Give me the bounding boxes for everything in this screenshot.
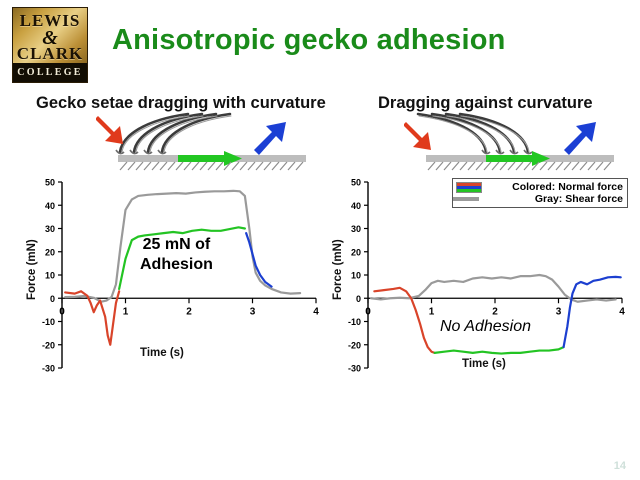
logo-line-lewis: LEWIS	[20, 12, 81, 29]
legend-row-colored: Colored: Normal force	[456, 181, 623, 193]
adhesion-annotation-line1: 25 mN of	[140, 235, 213, 255]
logo-college-bar: COLLEGE	[13, 63, 87, 82]
substrate-hatching-icon	[120, 162, 303, 170]
svg-text:50: 50	[351, 178, 361, 188]
svg-text:2: 2	[492, 306, 498, 317]
svg-text:4: 4	[619, 306, 625, 317]
svg-text:2: 2	[186, 306, 192, 317]
svg-text:-20: -20	[42, 340, 55, 350]
logo-line-clark: CLARK	[17, 45, 83, 62]
right-chart-xlabel: Time (s)	[462, 358, 506, 370]
no-adhesion-annotation: No Adhesion	[440, 318, 531, 336]
svg-text:-10: -10	[42, 317, 55, 327]
svg-text:1: 1	[123, 306, 129, 317]
svg-text:0: 0	[50, 294, 55, 304]
svg-text:40: 40	[351, 201, 361, 211]
svg-text:20: 20	[45, 247, 55, 257]
left-chart-xlabel: Time (s)	[140, 347, 184, 359]
setae-tips-icon	[116, 150, 166, 154]
svg-text:-30: -30	[348, 364, 361, 374]
setae-highlight-icon	[122, 116, 231, 152]
page-number: 14	[614, 460, 626, 472]
setae-diagram-against-curvature	[404, 110, 640, 172]
svg-text:20: 20	[351, 247, 361, 257]
adhesion-annotation: 25 mN of Adhesion	[140, 235, 213, 275]
chart-legend: Colored: Normal force Gray: Shear force	[452, 178, 628, 208]
legend-row-gray: Gray: Shear force	[456, 193, 623, 205]
legend-label-shear-force: Gray: Shear force	[488, 193, 623, 205]
setae-tips-icon	[482, 150, 532, 154]
colored-swatch-icon	[456, 182, 482, 193]
substrate-hatching-icon	[428, 162, 611, 170]
svg-text:40: 40	[45, 201, 55, 211]
svg-text:10: 10	[45, 271, 55, 281]
svg-text:3: 3	[250, 306, 256, 317]
svg-text:30: 30	[45, 224, 55, 234]
svg-text:30: 30	[351, 224, 361, 234]
svg-text:0: 0	[356, 294, 361, 304]
svg-text:3: 3	[556, 306, 562, 317]
blue-pull-arrow-icon	[564, 122, 596, 155]
svg-text:-30: -30	[42, 364, 55, 374]
slide-root: LEWIS & CLARK COLLEGE Anisotropic gecko …	[0, 0, 640, 480]
svg-text:50: 50	[45, 178, 55, 188]
red-load-arrow-icon	[96, 116, 123, 144]
svg-text:1: 1	[429, 306, 435, 317]
right-chart-ylabel: Force (mN)	[332, 239, 344, 300]
red-load-arrow-icon	[404, 122, 431, 150]
legend-label-normal-force: Colored: Normal force	[488, 181, 623, 193]
adhesion-annotation-line2: Adhesion	[140, 255, 213, 275]
svg-text:4: 4	[313, 306, 319, 317]
gray-swatch-icon	[456, 197, 482, 201]
left-chart-ylabel: Force (mN)	[26, 239, 38, 300]
svg-text:10: 10	[351, 271, 361, 281]
svg-text:-20: -20	[348, 340, 361, 350]
slide-title: Anisotropic gecko adhesion	[112, 24, 612, 57]
green-drag-arrow-icon	[178, 151, 242, 166]
svg-text:-10: -10	[348, 317, 361, 327]
green-drag-arrow-icon	[486, 151, 550, 166]
lewis-clark-college-logo: LEWIS & CLARK COLLEGE	[12, 7, 88, 83]
svg-text:0: 0	[59, 306, 65, 317]
svg-text:0: 0	[365, 306, 371, 317]
logo-wordmark: LEWIS & CLARK	[13, 8, 87, 63]
blue-pull-arrow-icon	[254, 122, 286, 155]
setae-diagram-with-curvature	[96, 110, 346, 172]
